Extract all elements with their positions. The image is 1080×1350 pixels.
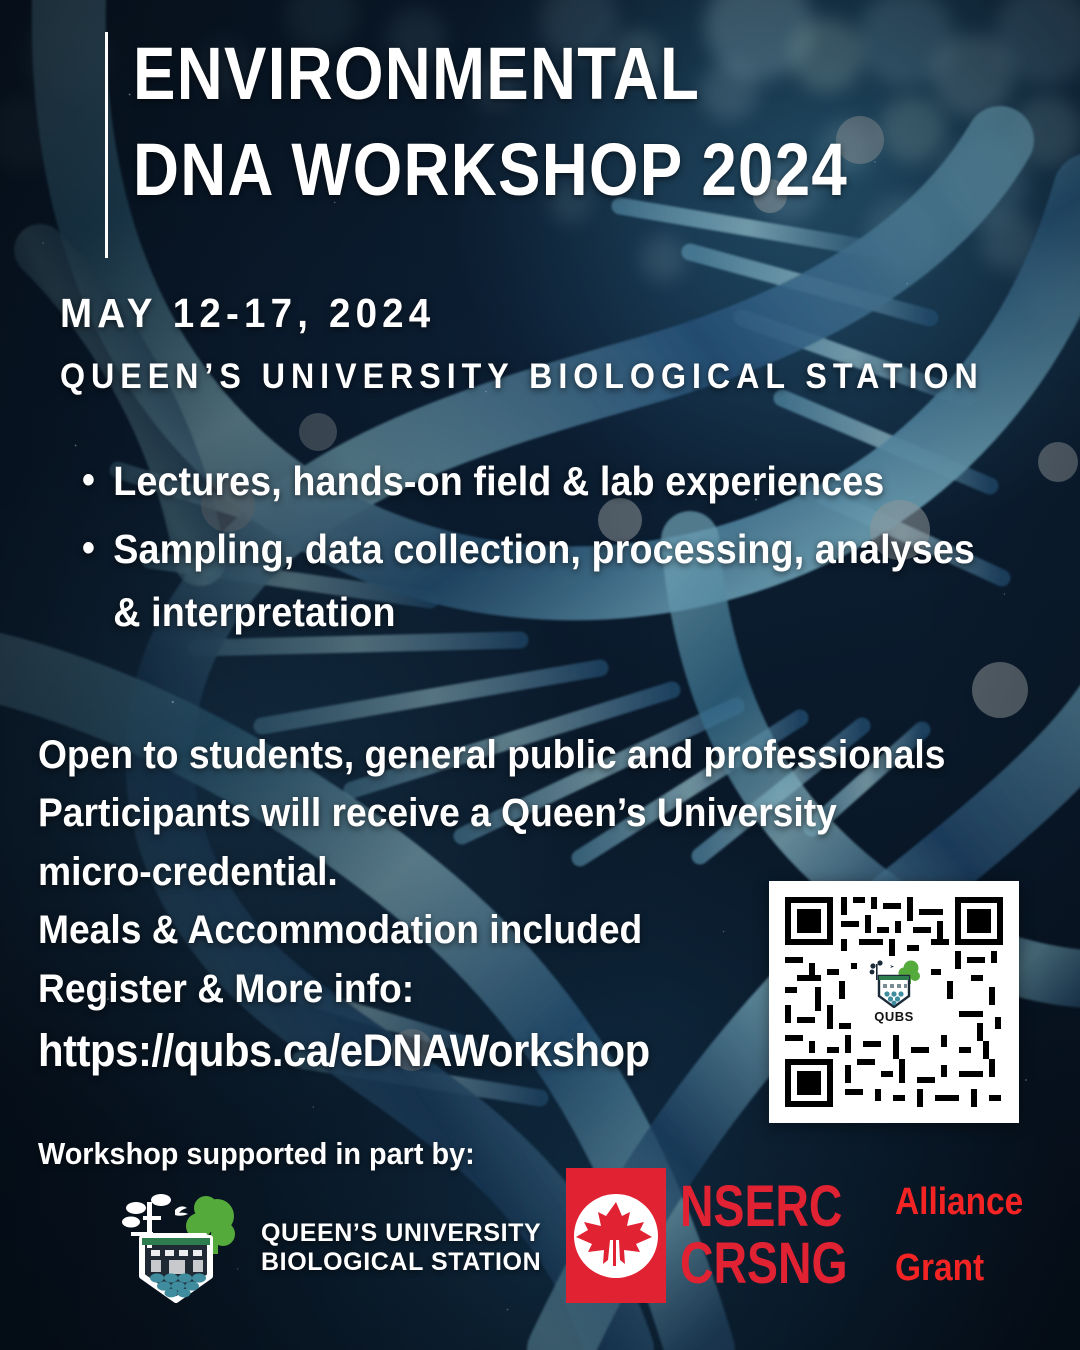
detail-line-audience: Open to students, general public and pro… bbox=[38, 726, 745, 784]
details-block: Open to students, general public and pro… bbox=[38, 726, 798, 1084]
qr-code-matrix: QUBS bbox=[781, 893, 1007, 1111]
page-title-line-1: ENVIRONMENTAL bbox=[133, 26, 848, 122]
event-date: MAY 12-17, 2024 bbox=[60, 290, 435, 337]
nserc-word-en: NSERC bbox=[680, 1179, 848, 1236]
sponsor-qubs-name-line1: QUEEN’S UNIVERSITY bbox=[261, 1219, 541, 1249]
nserc-wordmark: NSERC CRSNG bbox=[680, 1179, 889, 1293]
list-item: • Sampling, data collection, processing,… bbox=[82, 518, 984, 643]
nserc-word-fr: CRSNG bbox=[680, 1236, 848, 1293]
sponsor-nserc: NSERC CRSNG Alliance Grant bbox=[566, 1168, 1041, 1303]
nserc-program-line2: Grant bbox=[895, 1236, 1023, 1301]
detail-line-credential-2: micro-credential. bbox=[38, 843, 745, 901]
list-item: • Lectures, hands-on field & lab experie… bbox=[82, 450, 984, 512]
page-title-line-2: DNA WORKSHOP 2024 bbox=[133, 122, 848, 218]
event-location: QUEEN’S UNIVERSITY BIOLOGICAL STATION bbox=[60, 357, 984, 397]
registration-url-link[interactable]: https://qubs.ca/eDNAWorkshop bbox=[38, 1018, 745, 1084]
sponsor-qubs-name-line2: BIOLOGICAL STATION bbox=[261, 1248, 541, 1278]
poster-content: ENVIRONMENTAL DNA WORKSHOP 2024 MAY 12-1… bbox=[0, 0, 1080, 1350]
list-item-label: Lectures, hands-on field & lab experienc… bbox=[113, 450, 983, 512]
qr-code[interactable]: QUBS bbox=[769, 881, 1019, 1123]
bullet-icon: • bbox=[82, 450, 113, 511]
list-item-label: Sampling, data collection, processing, a… bbox=[113, 518, 983, 643]
bullet-icon: • bbox=[82, 518, 113, 579]
nserc-program: Alliance Grant bbox=[895, 1170, 1041, 1301]
poster-canvas: ENVIRONMENTAL DNA WORKSHOP 2024 MAY 12-1… bbox=[0, 0, 1080, 1350]
detail-line-meals: Meals & Accommodation included bbox=[38, 901, 745, 959]
maple-leaf-icon bbox=[570, 1190, 662, 1282]
qubs-logo-icon bbox=[113, 1186, 239, 1310]
qubs-shield-icon bbox=[866, 956, 922, 1008]
sponsor-qubs: QUEEN’S UNIVERSITY BIOLOGICAL STATION bbox=[113, 1186, 541, 1310]
title-vertical-rule bbox=[105, 32, 108, 258]
title-lines: ENVIRONMENTAL DNA WORKSHOP 2024 bbox=[133, 26, 964, 218]
nserc-program-line1: Alliance bbox=[895, 1170, 1023, 1235]
detail-line-credential-1: Participants will receive a Queen’s Univ… bbox=[38, 784, 745, 842]
supported-by-label: Workshop supported in part by: bbox=[38, 1136, 475, 1172]
qr-logo-label: QUBS bbox=[874, 1009, 914, 1024]
qr-center-logo: QUBS bbox=[857, 956, 931, 1034]
highlights-list: • Lectures, hands-on field & lab experie… bbox=[82, 450, 1062, 649]
nserc-badge bbox=[566, 1168, 666, 1303]
sponsor-qubs-name: QUEEN’S UNIVERSITY BIOLOGICAL STATION bbox=[261, 1219, 541, 1278]
detail-line-register: Register & More info: bbox=[38, 960, 745, 1018]
